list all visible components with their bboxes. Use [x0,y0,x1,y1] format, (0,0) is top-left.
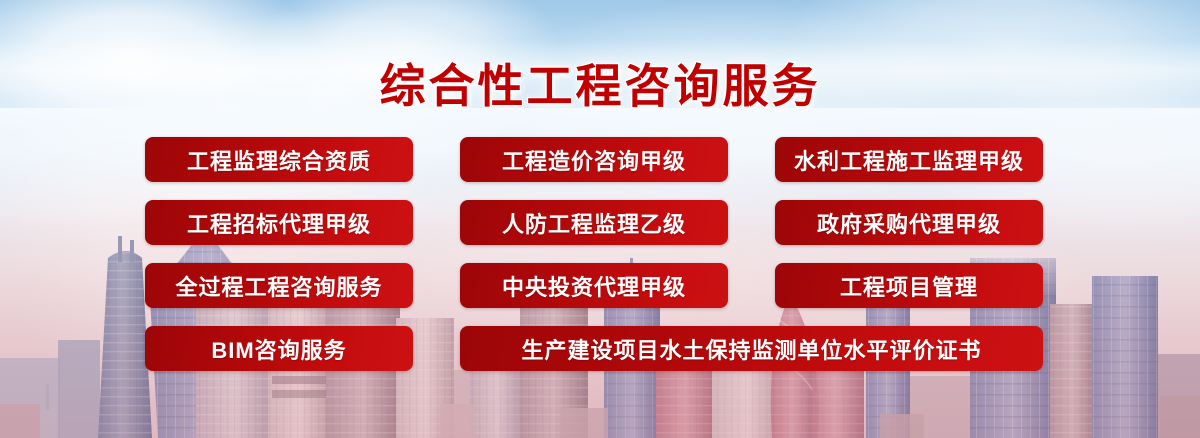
qualification-pill[interactable]: 全过程工程咨询服务 [145,263,413,308]
qualification-pill[interactable]: 工程监理综合资质 [145,137,413,182]
qualification-grid: 工程监理综合资质 工程造价咨询甲级 水利工程施工监理甲级 工程招标代理甲级 人防… [145,137,1065,389]
qualification-pill[interactable]: BIM咨询服务 [145,326,413,371]
page-title: 综合性工程咨询服务 [0,50,1200,116]
qualification-pill[interactable]: 生产建设项目水土保持监测单位水平评价证书 [460,326,1043,371]
qualification-pill[interactable]: 工程招标代理甲级 [145,200,413,245]
qualification-pill[interactable]: 中央投资代理甲级 [460,263,728,308]
qualification-pill[interactable]: 工程项目管理 [775,263,1043,308]
promo-banner: 综合性工程咨询服务 工程监理综合资质 工程造价咨询甲级 水利工程施工监理甲级 工… [0,0,1200,438]
qualification-pill[interactable]: 水利工程施工监理甲级 [775,137,1043,182]
qualification-pill[interactable]: 人防工程监理乙级 [460,200,728,245]
qualification-pill[interactable]: 政府采购代理甲级 [775,200,1043,245]
qualification-pill[interactable]: 工程造价咨询甲级 [460,137,728,182]
qualification-row: 工程监理综合资质 工程造价咨询甲级 水利工程施工监理甲级 [145,137,1065,182]
qualification-row: 工程招标代理甲级 人防工程监理乙级 政府采购代理甲级 [145,200,1065,245]
banner-content: 综合性工程咨询服务 工程监理综合资质 工程造价咨询甲级 水利工程施工监理甲级 工… [0,0,1200,438]
qualification-row: BIM咨询服务 生产建设项目水土保持监测单位水平评价证书 [145,326,1065,371]
qualification-row: 全过程工程咨询服务 中央投资代理甲级 工程项目管理 [145,263,1065,308]
